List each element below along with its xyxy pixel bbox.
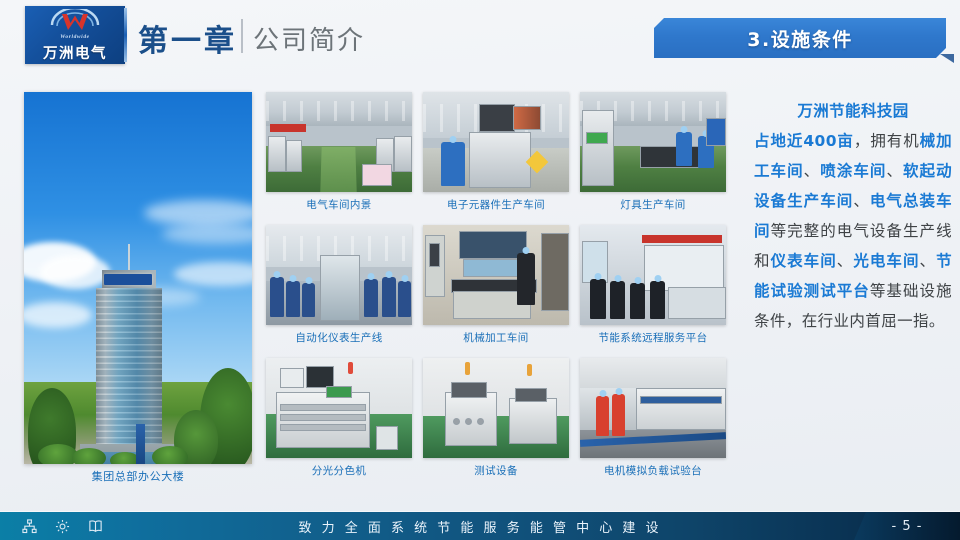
logo-company-name: 万洲电气 <box>43 42 107 63</box>
header-accent-bar <box>124 8 127 62</box>
grid-item: 电子元器件生产车间 <box>423 92 569 212</box>
facility-description-text: 万洲节能科技园占地近400亩，拥有机械加工车间、喷涂车间、软起动设备生产车间、电… <box>754 96 952 336</box>
electronics-worker-photo <box>423 92 569 192</box>
spectro-machine-photo <box>266 358 412 458</box>
shrub <box>152 446 188 464</box>
grid-item: 机械加工车间 <box>423 225 569 345</box>
slide-header: Worldwide 万洲电气 第一章 公司简介 3.设施条件 <box>0 0 960 80</box>
highlighted-term: 占地近400亩 <box>754 132 854 150</box>
plain-text-run: 、 <box>804 162 821 180</box>
slide-root: Worldwide 万洲电气 第一章 公司简介 3.设施条件 <box>0 0 960 540</box>
tower-spire <box>128 244 130 272</box>
logo-subtext: Worldwide <box>60 34 89 40</box>
instrument-line-photo <box>266 225 412 325</box>
grid-item-caption: 分光分色机 <box>266 463 412 478</box>
page-number: - 5 - <box>854 512 960 540</box>
grid-item: 电机模拟负载试验台 <box>580 358 726 478</box>
grid-item-caption: 机械加工车间 <box>423 330 569 345</box>
tower-window-bands <box>96 288 162 464</box>
page-title: 公司简介 <box>253 20 365 57</box>
section-badge-label: 3.设施条件 <box>747 25 852 52</box>
grid-item: 电气车间内景 <box>266 92 412 212</box>
entrance-banner <box>136 424 145 464</box>
assembly-hall-photo <box>266 92 412 192</box>
grid-item-caption: 自动化仪表生产线 <box>266 330 412 345</box>
test-equipment-photo <box>423 358 569 458</box>
lamp-line-photo <box>580 92 726 192</box>
plain-text-run: 、 <box>837 252 854 270</box>
section-badge: 3.设施条件 <box>654 18 946 58</box>
highlighted-term: 光电车间 <box>853 252 919 270</box>
grid-item-caption: 测试设备 <box>423 463 569 478</box>
grid-item: 灯具生产车间 <box>580 92 726 212</box>
grid-item: 自动化仪表生产线 <box>266 225 412 345</box>
control-room-photo <box>580 225 726 325</box>
company-logo: Worldwide 万洲电气 <box>25 6 125 64</box>
grid-item-caption: 电机模拟负载试验台 <box>580 463 726 478</box>
chapter-label: 第一章 <box>138 16 237 60</box>
ribbon-fold-decoration <box>940 54 954 63</box>
description-body: 占地近400亩，拥有机械加工车间、喷涂车间、软起动设备生产车间、电气总装车间等完… <box>754 132 952 330</box>
grid-item-caption: 电子元器件生产车间 <box>423 197 569 212</box>
w-shield-emblem-icon <box>48 9 102 33</box>
grid-item-caption: 节能系统远程服务平台 <box>580 330 726 345</box>
plain-text-run: 、 <box>853 192 870 210</box>
highlighted-term: 仪表车间 <box>771 252 837 270</box>
plain-text-run: ，拥有机 <box>854 132 920 150</box>
grid-item: 分光分色机 <box>266 358 412 478</box>
office-tower <box>96 288 162 464</box>
grid-item: 测试设备 <box>423 358 569 478</box>
machining-shop-photo <box>423 225 569 325</box>
facility-photo-grid: 电气车间内景 电子元器件生产车间 <box>266 92 726 484</box>
plain-text-run: 、 <box>886 162 903 180</box>
grid-item-caption: 灯具生产车间 <box>580 197 726 212</box>
plain-text-run: 、 <box>920 252 937 270</box>
shrub <box>72 448 106 464</box>
title-separator <box>241 19 243 53</box>
big-photo-caption: 集团总部办公大楼 <box>24 468 252 484</box>
slide-footer: 致 力 全 面 系 统 节 能 服 务 能 管 中 心 建 设 - 5 - <box>0 512 960 540</box>
cloud <box>40 255 110 289</box>
group-headquarters-building-photo <box>24 92 252 464</box>
description-lead: 万洲节能科技园 <box>754 96 952 126</box>
footer-slogan: 致 力 全 面 系 统 节 能 服 务 能 管 中 心 建 设 <box>0 517 960 536</box>
cloud <box>144 200 252 226</box>
tower-rooftop-sign <box>104 274 152 285</box>
highlighted-term: 喷涂车间 <box>820 162 886 180</box>
motor-load-bench-photo <box>580 358 726 458</box>
grid-item: 节能系统远程服务平台 <box>580 225 726 345</box>
grid-item-caption: 电气车间内景 <box>266 197 412 212</box>
